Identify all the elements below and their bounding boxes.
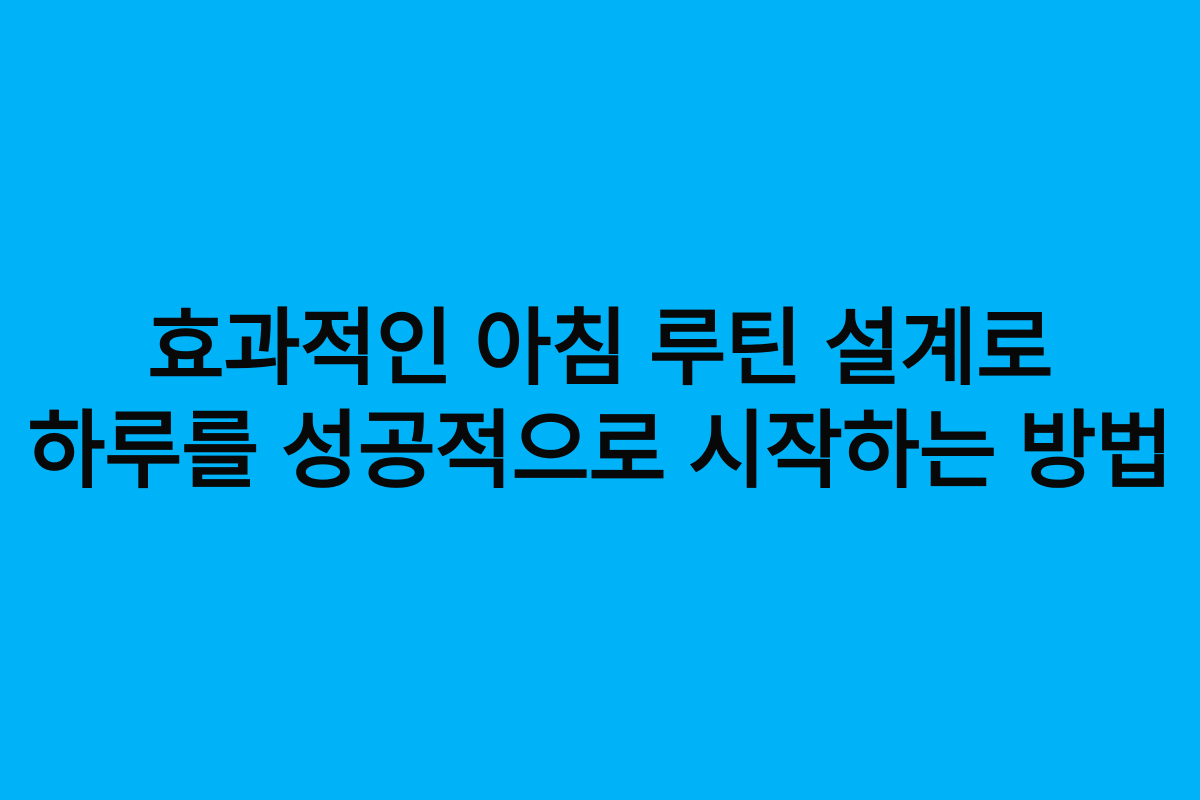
headline-line-2: 하루를 성공적으로 시작하는 방법 [28, 409, 1173, 494]
headline-block: 효과적인 아침 루틴 설계로 하루를 성공적으로 시작하는 방법 [0, 307, 1200, 493]
poster-canvas: 효과적인 아침 루틴 설계로 하루를 성공적으로 시작하는 방법 [0, 0, 1200, 800]
headline-line-1: 효과적인 아침 루틴 설계로 [148, 307, 1053, 391]
